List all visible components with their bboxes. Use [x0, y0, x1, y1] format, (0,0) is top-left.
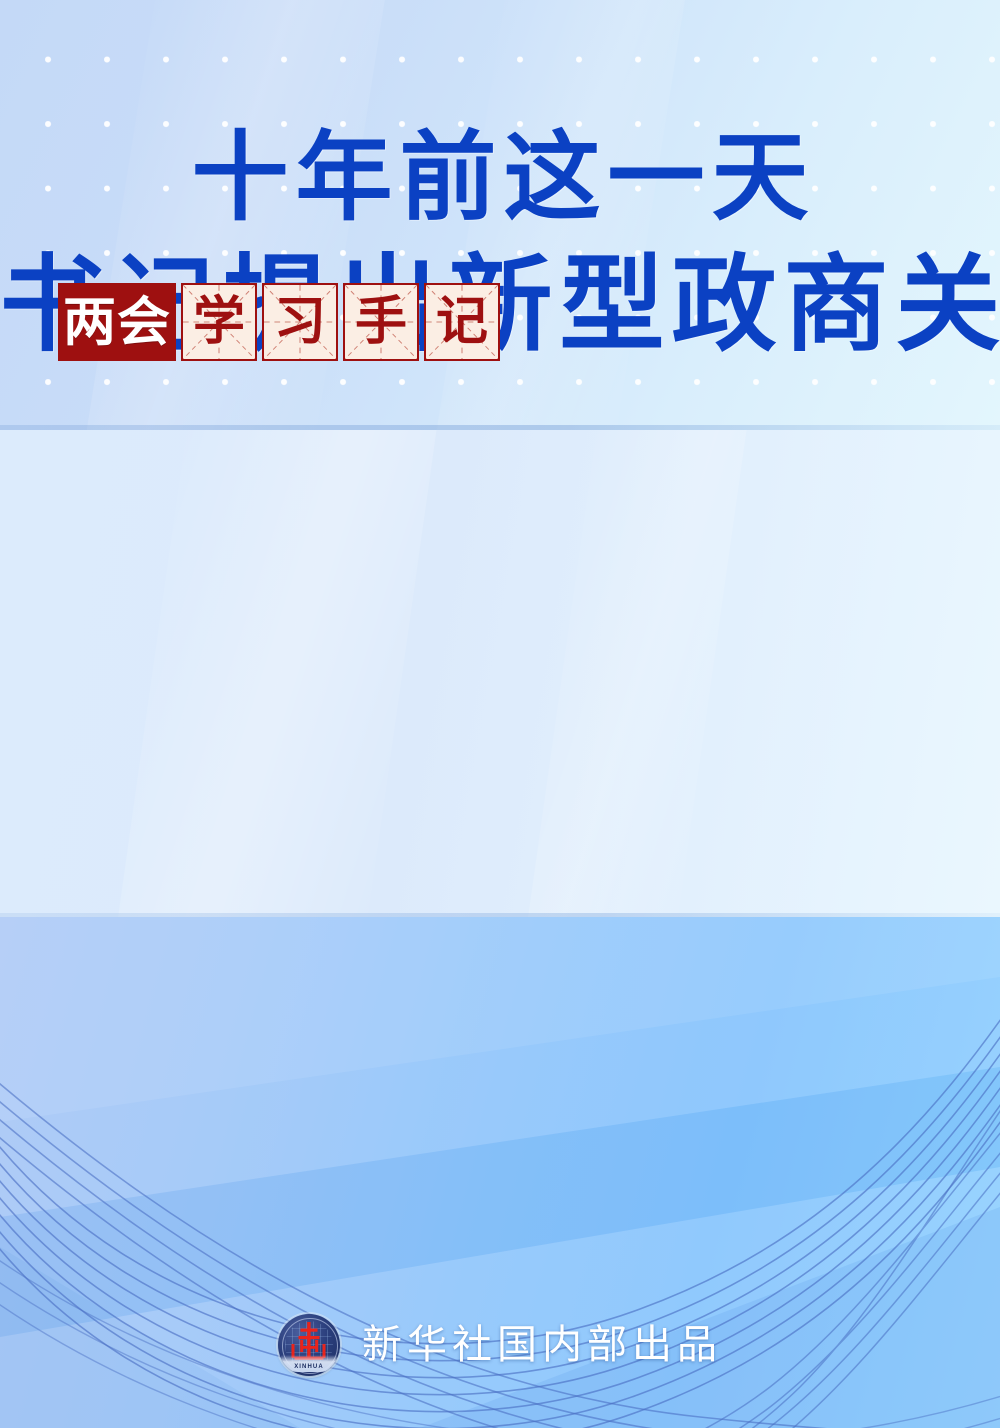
footer: XINHUA 新华社国内部出品 [0, 1300, 1000, 1390]
kicker-cell-char: 记 [436, 296, 488, 348]
kicker-cell-3: 手 [343, 283, 419, 361]
kicker-cell-2: 习 [262, 283, 338, 361]
page-title: 十年前这一天 总书记提出新型政商关系 [0, 0, 1000, 487]
kicker-label: 两会 学 习 [58, 283, 500, 361]
kicker-cell-char: 手 [355, 296, 407, 348]
kicker-cell-4: 记 [424, 283, 500, 361]
kicker-cell-char: 习 [274, 296, 326, 348]
poster-root: 两会 学 习 [0, 0, 1000, 1428]
kicker-cell-1: 学 [181, 283, 257, 361]
headline-panel [0, 430, 1000, 917]
headline-line-1: 十年前这一天 [185, 127, 816, 229]
headline-sheen-stripe-secondary [518, 430, 752, 917]
agency-credit: 新华社国内部出品 [362, 1325, 722, 1365]
kicker-badge-lianghui: 两会 [58, 283, 176, 361]
headline-sheen-stripe [108, 430, 442, 917]
logo-name-band: XINHUA [281, 1355, 337, 1372]
logo-wordmark: XINHUA [281, 1364, 337, 1370]
xinhua-logo-icon: XINHUA [278, 1314, 340, 1376]
kicker-cell-char: 学 [193, 296, 245, 348]
